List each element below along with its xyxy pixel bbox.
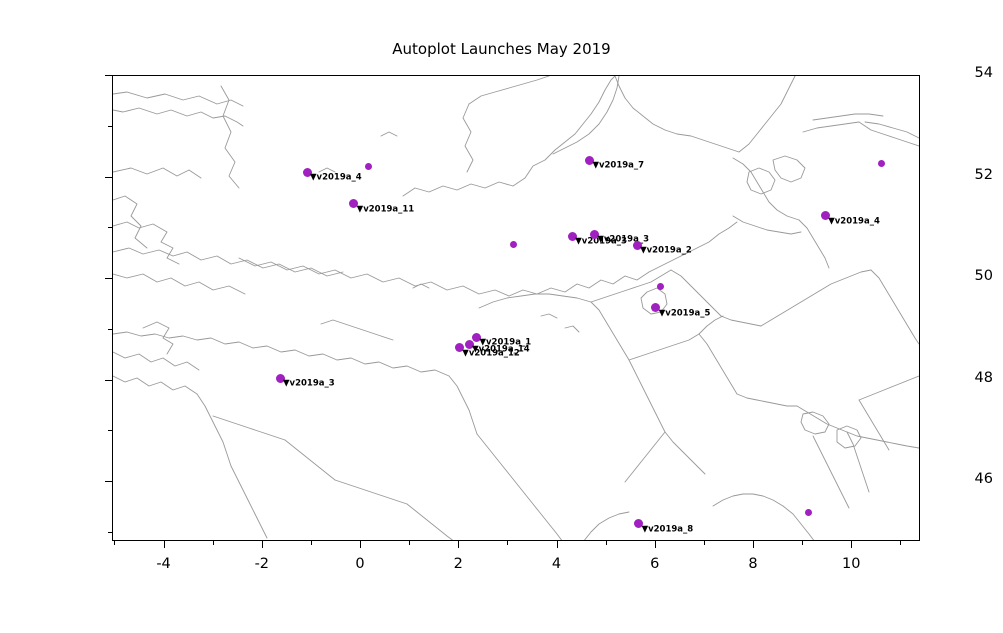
x-axis-minor-tick: [900, 541, 901, 545]
x-axis-minor-tick: [409, 541, 410, 545]
plot-area[interactable]: ▼v2019a_4▼v2019a_11▼v2019a_7▼v2019a_4▼v2…: [112, 75, 920, 541]
scatter-point-label: ▼v2019a_2: [640, 246, 692, 255]
scatter-point-label: ▼v2019a_7: [592, 161, 644, 170]
x-axis-tick: [655, 541, 656, 548]
x-axis-tick-label: 10: [842, 556, 860, 572]
scatter-point-label: ▼v2019a_8: [642, 525, 694, 534]
y-axis-tick: [105, 177, 112, 178]
x-axis-tick: [164, 541, 165, 548]
x-axis-minor-tick: [114, 541, 115, 545]
x-axis-minor-tick: [311, 541, 312, 545]
x-axis-minor-tick: [802, 541, 803, 545]
x-axis-tick-label: -4: [156, 556, 170, 572]
y-axis-tick: [105, 278, 112, 279]
y-axis-minor-tick: [108, 227, 112, 228]
scatter-point-label: ▼v2019a_3: [283, 379, 335, 388]
x-axis-tick: [557, 541, 558, 548]
page-title: Autoplot Launches May 2019: [0, 40, 1003, 58]
y-axis-minor-tick: [108, 329, 112, 330]
scatter-point-label: ▼v2019a_5: [659, 309, 711, 318]
scatter-point[interactable]: [365, 163, 372, 170]
y-axis-tick-label: 54: [905, 65, 1003, 81]
y-axis-tick: [105, 380, 112, 381]
x-axis-tick: [458, 541, 459, 548]
scatter-point-label: ▼v2019a_4: [310, 173, 362, 182]
y-axis-minor-tick: [108, 532, 112, 533]
y-axis-tick: [105, 75, 112, 76]
y-axis-tick-label: 52: [905, 167, 1003, 183]
x-axis-minor-tick: [704, 541, 705, 545]
scatter-point[interactable]: [878, 160, 885, 167]
scatter-point-label: ▼v2019a_11: [357, 205, 415, 214]
y-axis-minor-tick: [108, 126, 112, 127]
x-axis-tick: [753, 541, 754, 548]
scatter-point-label: ▼v2019a_4: [828, 217, 880, 226]
x-axis-tick-label: 0: [355, 556, 364, 572]
scatter-point[interactable]: [805, 509, 812, 516]
scatter-point-label: ▼v2019a_14: [472, 345, 530, 354]
x-axis-minor-tick: [213, 541, 214, 545]
y-axis-tick-label: 48: [905, 370, 1003, 386]
x-axis-tick-label: 8: [748, 556, 757, 572]
x-axis-tick-label: 2: [454, 556, 463, 572]
x-axis-tick-label: -2: [255, 556, 269, 572]
x-axis-tick-label: 6: [650, 556, 659, 572]
x-axis-tick: [851, 541, 852, 548]
x-axis-tick: [262, 541, 263, 548]
x-axis-minor-tick: [606, 541, 607, 545]
x-axis-tick: [360, 541, 361, 548]
x-axis-tick-label: 4: [552, 556, 561, 572]
y-axis-tick: [105, 481, 112, 482]
y-axis-minor-tick: [108, 430, 112, 431]
y-axis-tick-label: 50: [905, 268, 1003, 284]
scatter-point[interactable]: [510, 241, 517, 248]
y-axis-tick-label: 46: [905, 471, 1003, 487]
figure-canvas: Autoplot Launches May 2019: [0, 0, 1003, 633]
map-coastlines: [113, 76, 920, 541]
x-axis-minor-tick: [507, 541, 508, 545]
